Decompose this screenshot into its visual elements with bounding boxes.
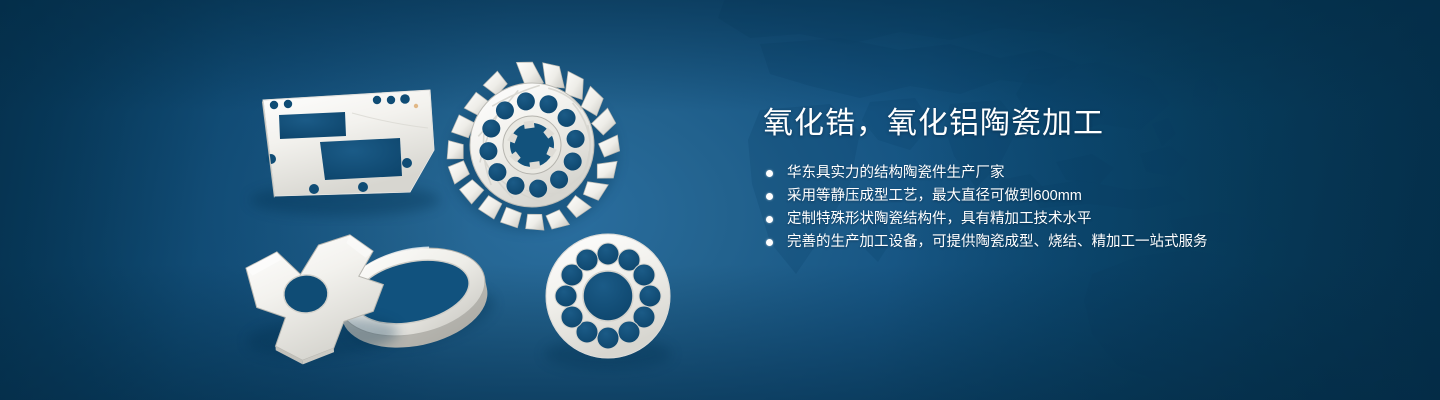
feature-list: 华东具实力的结构陶瓷件生产厂家 采用等静压成型工艺，最大直径可做到600mm 定… <box>763 162 1383 254</box>
feature-text: 定制特殊形状陶瓷结构件，具有精加工技术水平 <box>787 211 1092 227</box>
bullet-dot-icon <box>766 170 773 177</box>
feature-item: 完善的生产加工设备，可提供陶瓷成型、烧结、精加工一站式服务 <box>763 231 1383 254</box>
bullet-dot-icon <box>766 193 773 200</box>
banner-headline: 氧化锆，氧化铝陶瓷加工 <box>763 104 1383 144</box>
ceramic-perforated-disc <box>544 234 672 370</box>
bullet-dot-icon <box>766 239 773 246</box>
feature-text: 完善的生产加工设备，可提供陶瓷成型、烧结、精加工一站式服务 <box>787 234 1208 250</box>
feature-item: 定制特殊形状陶瓷结构件，具有精加工技术水平 <box>763 208 1383 231</box>
banner-text-column: 氧化锆，氧化铝陶瓷加工 华东具实力的结构陶瓷件生产厂家 采用等静压成型工艺，最大… <box>763 104 1383 254</box>
feature-text: 采用等静压成型工艺，最大直径可做到600mm <box>787 188 1082 204</box>
bullet-dot-icon <box>766 216 773 223</box>
feature-text: 华东具实力的结构陶瓷件生产厂家 <box>787 165 1005 181</box>
ceramic-cross-shaped-part <box>240 232 400 368</box>
ceramic-impeller-disc <box>435 50 629 242</box>
ceramic-rectangular-plate <box>250 90 440 216</box>
feature-item: 采用等静压成型工艺，最大直径可做到600mm <box>763 185 1383 208</box>
feature-item: 华东具实力的结构陶瓷件生产厂家 <box>763 162 1383 185</box>
hero-banner: 氧化锆，氧化铝陶瓷加工 华东具实力的结构陶瓷件生产厂家 采用等静压成型工艺，最大… <box>0 0 1440 400</box>
product-image-group <box>0 0 720 400</box>
